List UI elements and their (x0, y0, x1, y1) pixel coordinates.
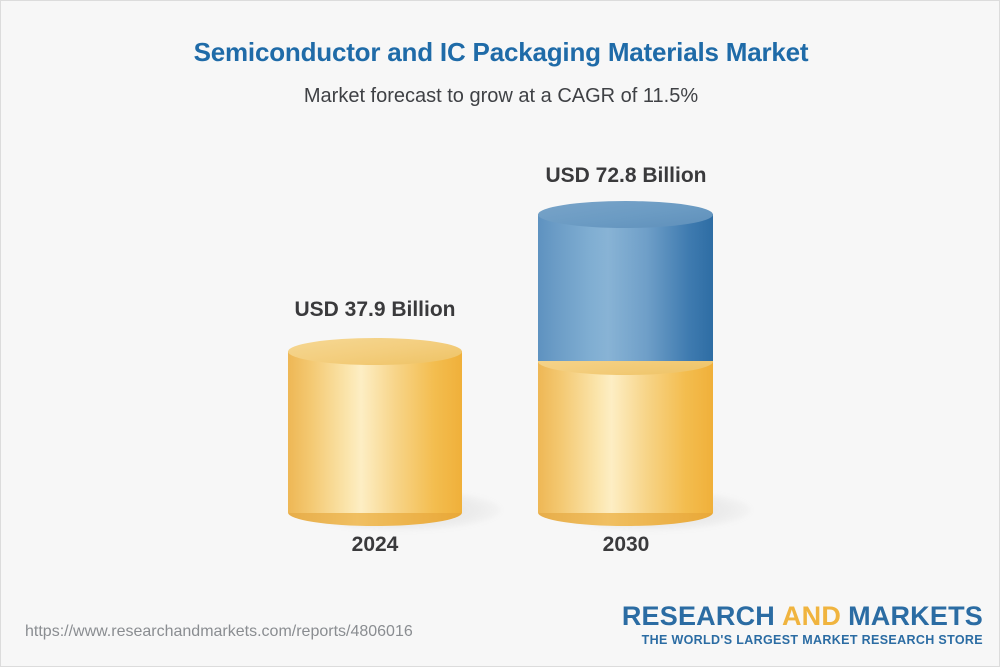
chart-plot-area: USD 37.9 Billion 2024 USD 72.8 Billion 2… (1, 1, 1000, 667)
bar-2024-body (288, 351, 462, 513)
bar-2024-top-cap (288, 338, 462, 365)
bar-2030-upper-segment (538, 214, 713, 361)
bar-2030[interactable] (538, 201, 713, 513)
bar-2024[interactable] (288, 338, 462, 513)
research-and-markets-logo[interactable]: RESEARCHANDMARKETS THE WORLD'S LARGEST M… (622, 601, 983, 647)
source-url[interactable]: https://www.researchandmarkets.com/repor… (25, 623, 413, 641)
value-label-2024: USD 37.9 Billion (225, 298, 525, 322)
bar-2030-lower-segment (538, 361, 713, 513)
logo-tagline: THE WORLD'S LARGEST MARKET RESEARCH STOR… (622, 633, 983, 647)
chart-card: Semiconductor and IC Packaging Materials… (0, 0, 1000, 667)
category-label-2030: 2030 (476, 533, 776, 557)
logo-wordmark: RESEARCHANDMARKETS (622, 601, 983, 631)
logo-word-research: RESEARCH (622, 601, 775, 631)
bar-2030-top-cap (538, 201, 713, 228)
logo-word-and: AND (782, 601, 841, 631)
value-label-2030: USD 72.8 Billion (476, 164, 776, 188)
logo-word-markets: MARKETS (848, 601, 983, 631)
